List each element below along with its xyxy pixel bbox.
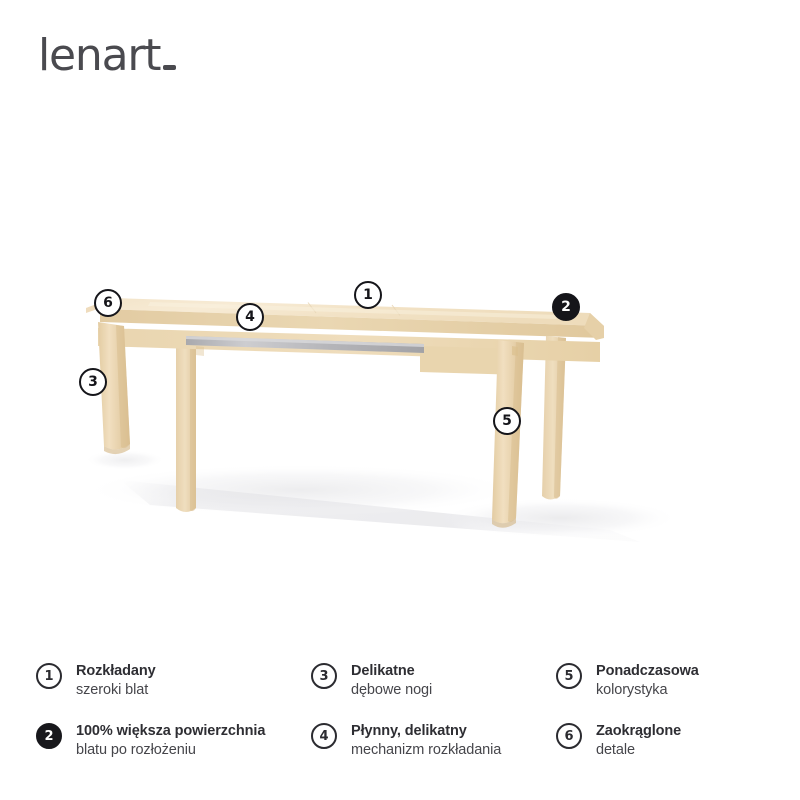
legend-item-3: 3 Delikatne dębowe nogi (311, 662, 432, 699)
legend-badge-number: 6 (564, 730, 573, 743)
legend-badge-number: 2 (44, 730, 53, 743)
callout-badge-3[interactable]: 3 (79, 368, 107, 396)
callout-number: 1 (363, 288, 373, 302)
legend-subtitle: mechanizm rozkładania (351, 741, 501, 760)
legend-badge-2[interactable]: 2 (36, 723, 62, 749)
legend-badge-number: 4 (319, 730, 328, 743)
legend-text: Ponadczasowa kolorystyka (596, 662, 699, 699)
legend-text: Zaokrąglone detale (596, 722, 681, 759)
legend-subtitle: szeroki blat (76, 681, 156, 700)
callout-number: 4 (245, 310, 255, 324)
legend-title: Ponadczasowa (596, 662, 699, 681)
extendable-dining-table-illustration (0, 150, 800, 580)
legend-badge-3[interactable]: 3 (311, 663, 337, 689)
legend-badge-number: 3 (319, 670, 328, 683)
callout-badge-5[interactable]: 5 (493, 407, 521, 435)
legend-text: Delikatne dębowe nogi (351, 662, 432, 699)
table-leg-rear-left (176, 346, 196, 512)
legend-text: Rozkładany szeroki blat (76, 662, 156, 699)
legend-title: 100% większa powierzchnia (76, 722, 265, 741)
legend-title: Rozkładany (76, 662, 156, 681)
callout-badge-6[interactable]: 6 (94, 289, 122, 317)
legend-badge-1[interactable]: 1 (36, 663, 62, 689)
legend-text: 100% większa powierzchnia blatu po rozło… (76, 722, 265, 759)
callout-number: 2 (561, 300, 571, 314)
legend-badge-5[interactable]: 5 (556, 663, 582, 689)
callout-badge-1[interactable]: 1 (354, 281, 382, 309)
legend-subtitle: detale (596, 741, 681, 760)
callout-badge-4[interactable]: 4 (236, 303, 264, 331)
legend-badge-4[interactable]: 4 (311, 723, 337, 749)
callout-badge-2[interactable]: 2 (552, 293, 580, 321)
feature-legend: 1 Rozkładany szeroki blat 2 100% większa… (0, 650, 800, 780)
legend-subtitle: dębowe nogi (351, 681, 432, 700)
callout-number: 5 (502, 414, 512, 428)
legend-badge-6[interactable]: 6 (556, 723, 582, 749)
legend-item-6: 6 Zaokrąglone detale (556, 722, 681, 759)
legend-title: Delikatne (351, 662, 432, 681)
legend-subtitle: kolorystyka (596, 681, 699, 700)
floor-shadow (80, 450, 680, 542)
legend-text: Płynny, delikatny mechanizm rozkładania (351, 722, 501, 759)
legend-badge-number: 1 (44, 670, 53, 683)
legend-title: Zaokrąglone (596, 722, 681, 741)
legend-item-4: 4 Płynny, delikatny mechanizm rozkładani… (311, 722, 501, 759)
legend-item-1: 1 Rozkładany szeroki blat (36, 662, 156, 699)
legend-badge-number: 5 (564, 670, 573, 683)
legend-title: Płynny, delikatny (351, 722, 501, 741)
callout-number: 6 (103, 296, 113, 310)
legend-item-5: 5 Ponadczasowa kolorystyka (556, 662, 699, 699)
underscore-mark-icon (163, 65, 176, 70)
callout-number: 3 (88, 375, 98, 389)
brand-logo: lenart (38, 34, 176, 88)
brand-name: lenart (38, 34, 160, 78)
legend-item-2: 2 100% większa powierzchnia blatu po roz… (36, 722, 265, 759)
legend-subtitle: blatu po rozłożeniu (76, 741, 265, 760)
product-image: 1 2 3 4 5 6 (0, 150, 800, 580)
